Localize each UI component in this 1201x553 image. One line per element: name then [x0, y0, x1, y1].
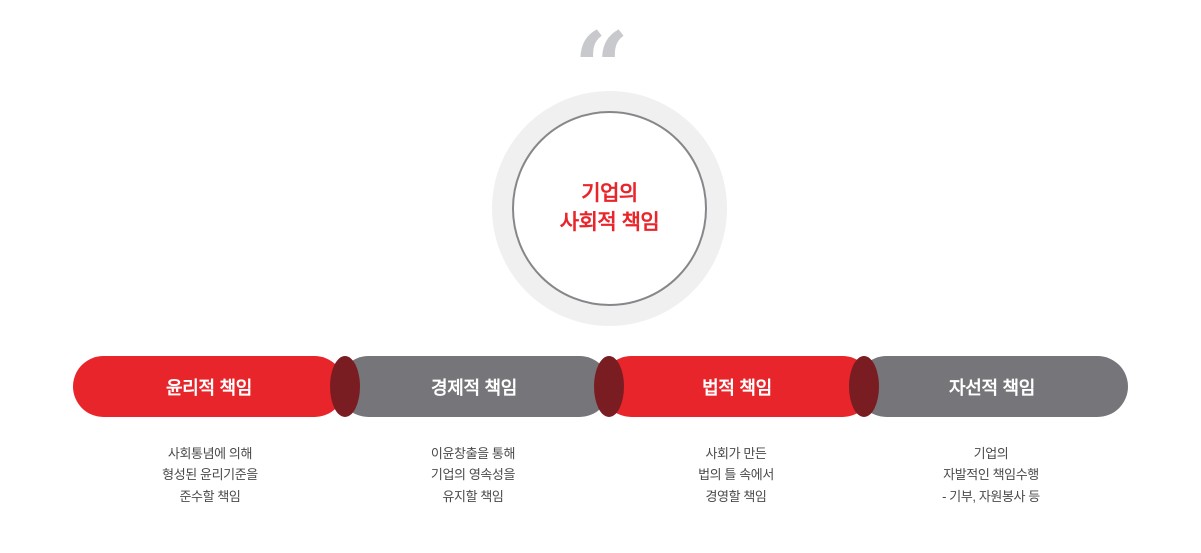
responsibility-pill-row: 윤리적 책임 경제적 책임 법적 책임 자선적 책임	[0, 356, 1201, 417]
pill-philanthropic-responsibility[interactable]: 자선적 책임	[856, 356, 1128, 417]
caption-economic-responsibility: 이윤창출을 통해 기업의 영속성을 유지할 책임	[348, 443, 598, 507]
pill-label: 법적 책임	[702, 374, 772, 400]
pill-label: 경제적 책임	[431, 374, 517, 400]
pill-legal-responsibility[interactable]: 법적 책임	[601, 356, 873, 417]
pill-economic-responsibility[interactable]: 경제적 책임	[338, 356, 610, 417]
caption-ethical-responsibility: 사회통념에 의해 형성된 윤리기준을 준수할 책임	[85, 443, 335, 507]
pill-label: 자선적 책임	[949, 374, 1035, 400]
pill-label: 윤리적 책임	[166, 374, 252, 400]
caption-legal-responsibility: 사회가 만든 법의 틀 속에서 경영할 책임	[611, 443, 861, 507]
center-circle-title: 기업의 사회적 책임	[560, 180, 659, 238]
infographic-canvas: “ 기업의 사회적 책임 윤리적 책임 경제적 책임 법적 책임 자선적 책임 …	[0, 0, 1201, 553]
pill-ethical-responsibility[interactable]: 윤리적 책임	[73, 356, 345, 417]
center-circle: 기업의 사회적 책임	[512, 111, 707, 306]
caption-philanthropic-responsibility: 기업의 자발적인 책임수행 - 기부, 자원봉사 등	[866, 443, 1116, 507]
